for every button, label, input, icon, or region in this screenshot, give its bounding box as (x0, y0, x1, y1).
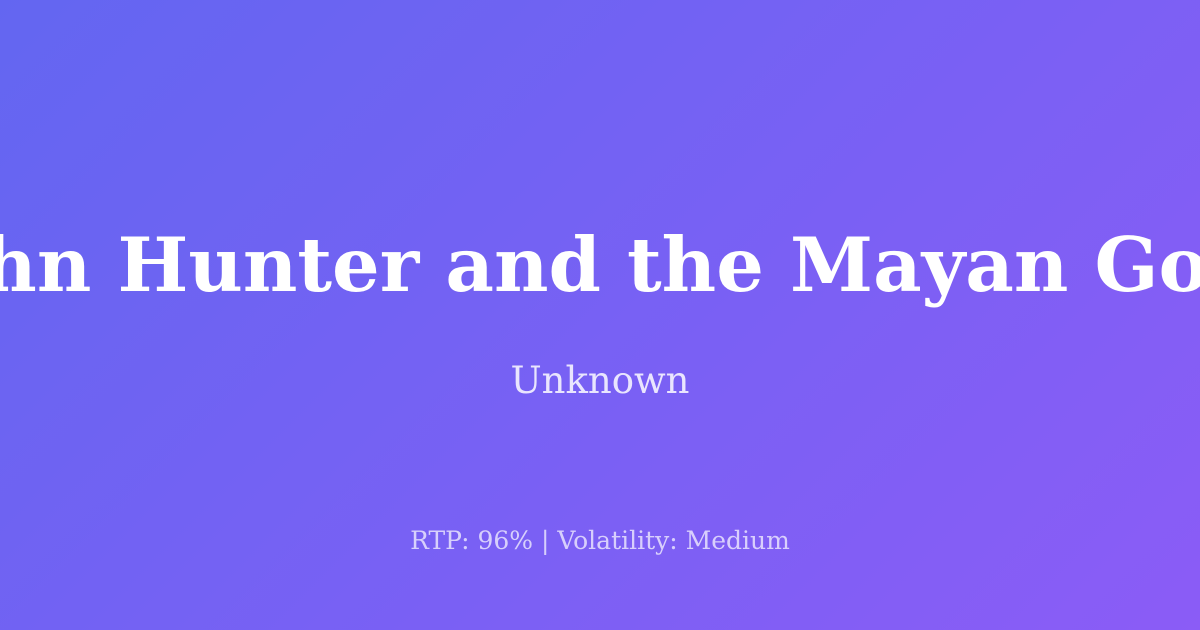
game-stats-line: RTP: 96% | Volatility: Medium (0, 528, 1200, 553)
game-provider-label: Unknown (0, 362, 1200, 399)
page-title: John Hunter and the Mayan Gods (0, 228, 1200, 303)
game-promo-card: John Hunter and the Mayan Gods Unknown R… (0, 0, 1200, 630)
